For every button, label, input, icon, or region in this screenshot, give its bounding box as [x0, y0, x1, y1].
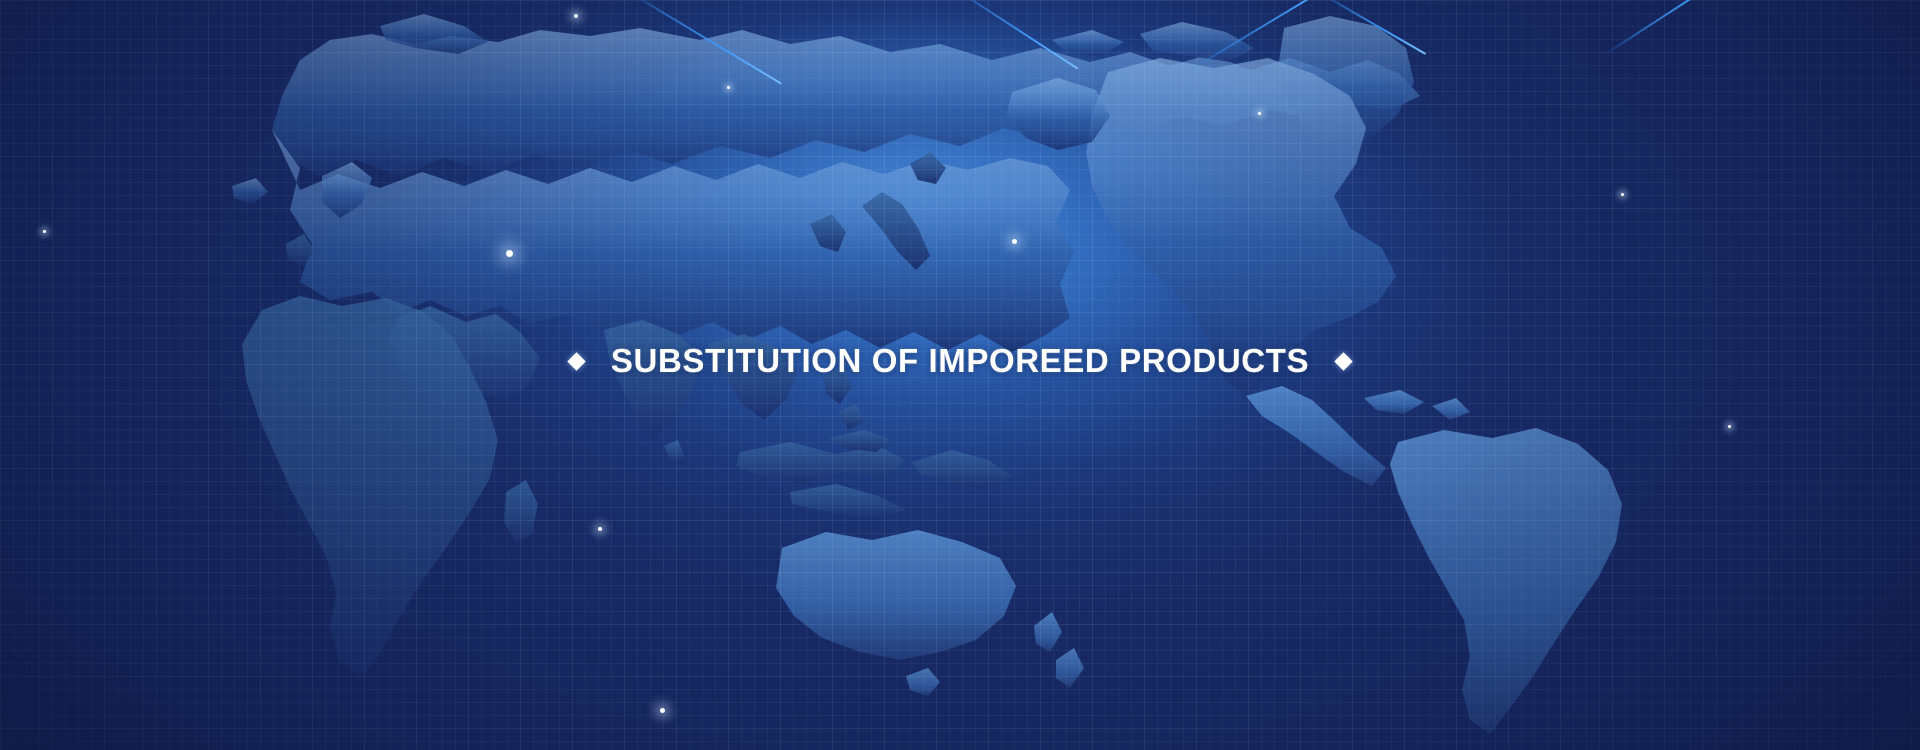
star-dot [1621, 193, 1624, 196]
star-dot [43, 230, 46, 233]
star-dot [1258, 112, 1261, 115]
star-dot [727, 86, 730, 89]
hero-banner: SUBSTITUTION OF IMPOREED PRODUCTS [0, 0, 1920, 750]
star-dot [1728, 425, 1731, 428]
star-dot [598, 527, 602, 531]
star-dot [506, 250, 513, 257]
star-dot [574, 14, 578, 18]
star-dot [660, 708, 665, 713]
background-vignette [0, 0, 1920, 750]
star-dot [1012, 239, 1017, 244]
